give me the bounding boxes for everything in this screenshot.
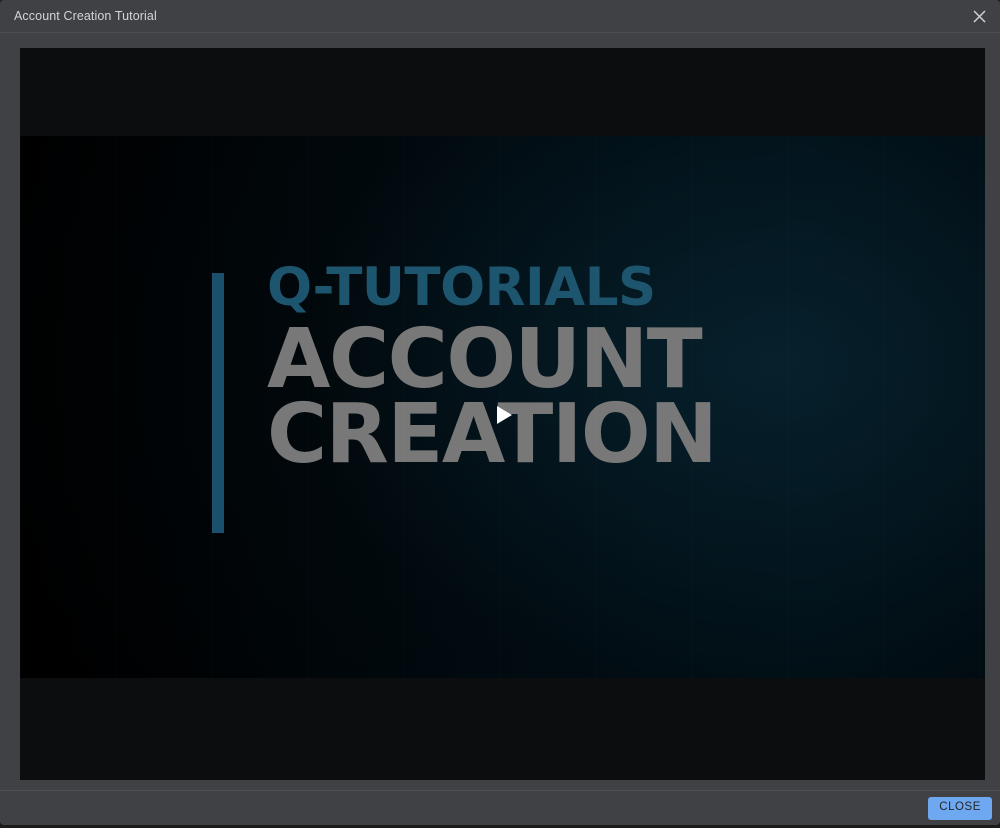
video-kicker: Q-TUTORIALS [267, 261, 716, 315]
dialog-body: Q-TUTORIALS ACCOUNT CREATION [0, 33, 1000, 790]
video-headline-line-2: CREATION [267, 396, 716, 475]
video-title-block: Q-TUTORIALS ACCOUNT CREATION [212, 273, 716, 533]
accent-bar [212, 273, 224, 533]
dialog-footer: CLOSE [0, 790, 1000, 825]
video-frame: Q-TUTORIALS ACCOUNT CREATION [20, 136, 985, 678]
video-modal-dialog: Account Creation Tutorial Q-TUTORIALS AC… [0, 0, 1000, 825]
close-x-icon[interactable] [966, 3, 992, 29]
close-button[interactable]: CLOSE [928, 797, 992, 820]
dialog-title: Account Creation Tutorial [14, 10, 157, 23]
video-player[interactable]: Q-TUTORIALS ACCOUNT CREATION [20, 48, 985, 780]
dialog-titlebar: Account Creation Tutorial [0, 0, 1000, 33]
video-title-text: Q-TUTORIALS ACCOUNT CREATION [267, 261, 716, 474]
